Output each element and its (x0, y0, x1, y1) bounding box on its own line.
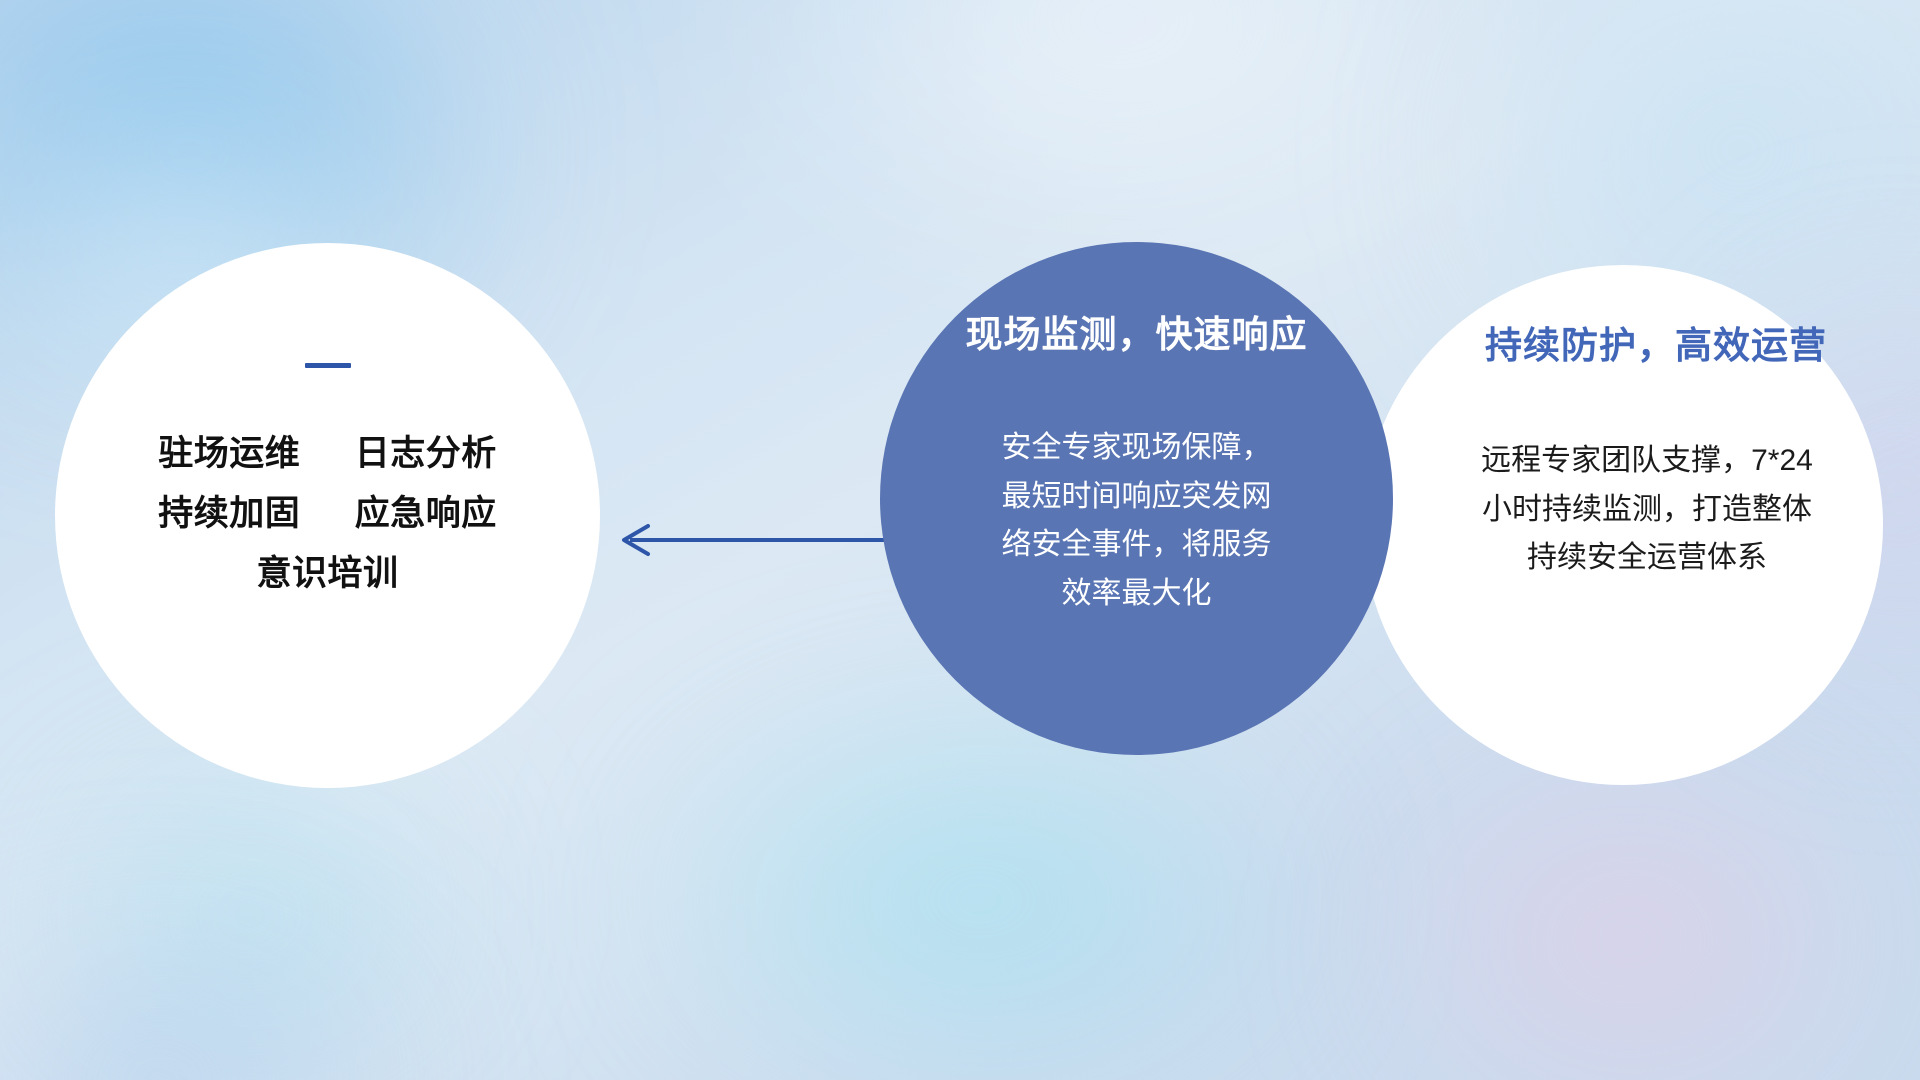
capability-label: 驻场运维 (158, 434, 300, 473)
onsite-monitoring-circle[interactable]: 现场监测，快速响应 安全专家现场保障， 最短时间响应突发网 络安全事件，将服务 … (880, 242, 1393, 755)
capability-label: 持续加固 (158, 494, 300, 533)
body-line: 安全专家现场保障， (937, 424, 1337, 473)
continuous-protection-body: 远程专家团队支撑，7*24 小时持续监测，打造整体 持续安全运营体系 (1384, 437, 1862, 583)
body-line: 络安全事件，将服务 (937, 521, 1337, 570)
divider-dash-icon (305, 363, 351, 368)
body-line: 持续安全运营体系 (1432, 534, 1862, 583)
capabilities-row: 持续加固 应急响应 (158, 484, 497, 544)
body-line: 最短时间响应突发网 (937, 473, 1337, 522)
capability-label: 日志分析 (355, 434, 497, 473)
body-line: 远程专家团队支撑，7*24 (1432, 437, 1862, 486)
capability-label: 应急响应 (355, 494, 497, 533)
capability-label: 意识培训 (256, 554, 398, 593)
capabilities-list: 驻场运维 日志分析 持续加固 应急响应 意识培训 (158, 424, 497, 605)
slide-canvas: 持续防护，高效运营 远程专家团队支撑，7*24 小时持续监测，打造整体 持续安全… (0, 0, 1920, 1080)
body-line: 小时持续监测，打造整体 (1432, 486, 1862, 535)
body-line: 效率最大化 (937, 570, 1337, 619)
continuous-protection-circle[interactable]: 持续防护，高效运营 远程专家团队支撑，7*24 小时持续监测，打造整体 持续安全… (1363, 265, 1883, 785)
onsite-monitoring-body: 安全专家现场保障， 最短时间响应突发网 络安全事件，将服务 效率最大化 (937, 424, 1337, 618)
continuous-protection-title: 持续防护，高效运营 (1419, 315, 1827, 369)
onsite-monitoring-title: 现场监测，快速响应 (966, 304, 1308, 358)
capabilities-circle[interactable]: 驻场运维 日志分析 持续加固 应急响应 意识培训 (55, 243, 600, 788)
capabilities-row: 意识培训 (158, 544, 497, 604)
capabilities-row: 驻场运维 日志分析 (158, 424, 497, 484)
